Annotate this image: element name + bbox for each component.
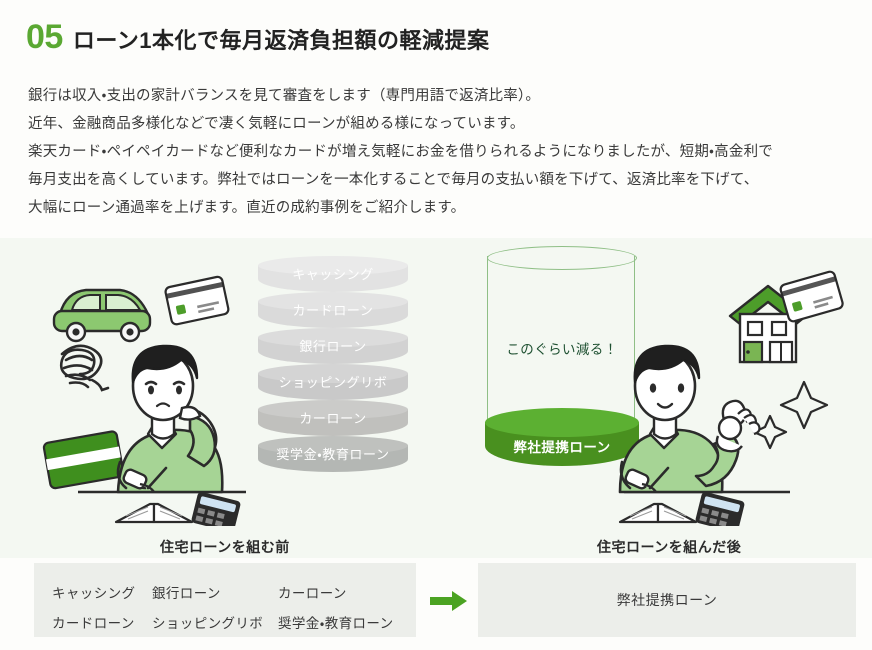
illustration-band: キャッシング カードローン 銀行ローン ショッピングリボ カーローン [0,238,872,558]
caption-before: 住宅ローンを組む前 [160,537,290,557]
arrow-right-icon [430,590,468,612]
notebook-icon [116,504,192,522]
stack-layer-label: 奨学金・教育ローン [258,444,408,463]
partner-loan-label: 弊社提携ローン [485,436,639,456]
summary-item: 奨学金・教育ローン [278,612,394,632]
body-line: 近年、金融商品多様化などで凄く気軽にローンが組める様になっています。 [28,110,856,138]
page-title: ローン1本化で毎月返済負担額の軽減提案 [73,30,490,52]
worried-person-illustration [40,256,250,531]
summary-after-label: 弊社提携ローン [478,563,856,637]
heading-number: 05 [26,20,63,54]
reduction-note: このぐらい減る！ [487,338,637,358]
page-heading: 05 ローン1本化で毎月返済負担額の軽減提案 [26,20,489,54]
notebook-icon [620,504,696,522]
glass-rim [487,246,637,270]
partner-loan-layer: 弊社提携ローン [485,408,639,466]
summary-item: カードローン [52,612,152,632]
stack-layer: 銀行ローン [258,328,408,364]
car-icon [54,290,150,341]
calculator-icon [191,491,241,526]
infographic-page: 05 ローン1本化で毎月返済負担額の軽減提案 銀行は収入・支出の家計バランスを見… [0,0,872,650]
summary-item: ショッピングリボ [152,612,278,632]
body-paragraph: 銀行は収入・支出の家計バランスを見て審査をします（専門用語で返済比率）。 近年、… [28,82,856,222]
credit-card-icon [779,271,843,323]
stack-layer-label: キャッシング [258,264,408,283]
stack-layer-label: ショッピングリボ [258,372,408,391]
summary-before-grid: キャッシング 銀行ローン カーローン カードローン ショッピングリボ 奨学金・教… [52,577,394,637]
scribble-icon [61,346,108,390]
happy-person-illustration [618,256,848,531]
summary-item: キャッシング [52,582,152,602]
loan-stack-before: キャッシング カードローン 銀行ローン ショッピングリボ カーローン [258,256,408,472]
credit-card-icon [165,276,230,325]
caption-after: 住宅ローンを組んだ後 [597,537,741,557]
stack-layer: カードローン [258,292,408,328]
body-line: 銀行は収入・支出の家計バランスを見て審査をします（専門用語で返済比率）。 [28,82,856,110]
stack-layer: ショッピングリボ [258,364,408,400]
stack-layer: カーローン [258,400,408,436]
body-line: 毎月支出を高くしています。弊社ではローンを一本化することで毎月の支払い額を下げて… [28,166,856,194]
calculator-icon [695,491,745,526]
stack-layer-label: カーローン [258,408,408,427]
body-line: 大幅にローン通過率を上げます。直近の成約事例をご紹介します。 [28,194,856,222]
sparkle-icon [754,382,827,448]
summary-before-box: キャッシング 銀行ローン カーローン カードローン ショッピングリボ 奨学金・教… [34,563,416,637]
summary-item: カーローン [278,582,394,602]
stack-layer-label: カードローン [258,300,408,319]
body-line: 楽天カード・ペイペイカードなど便利なカードが増え気軽にお金を借りられるようになり… [28,138,856,166]
stack-layer-label: 銀行ローン [258,336,408,355]
stack-layer: キャッシング [258,256,408,292]
stack-layer: 奨学金・教育ローン [258,436,408,472]
partner-loan-top [485,408,639,437]
summary-item: 銀行ローン [152,582,278,602]
green-card-icon [43,431,124,489]
summary-after-box: 弊社提携ローン [478,563,856,637]
